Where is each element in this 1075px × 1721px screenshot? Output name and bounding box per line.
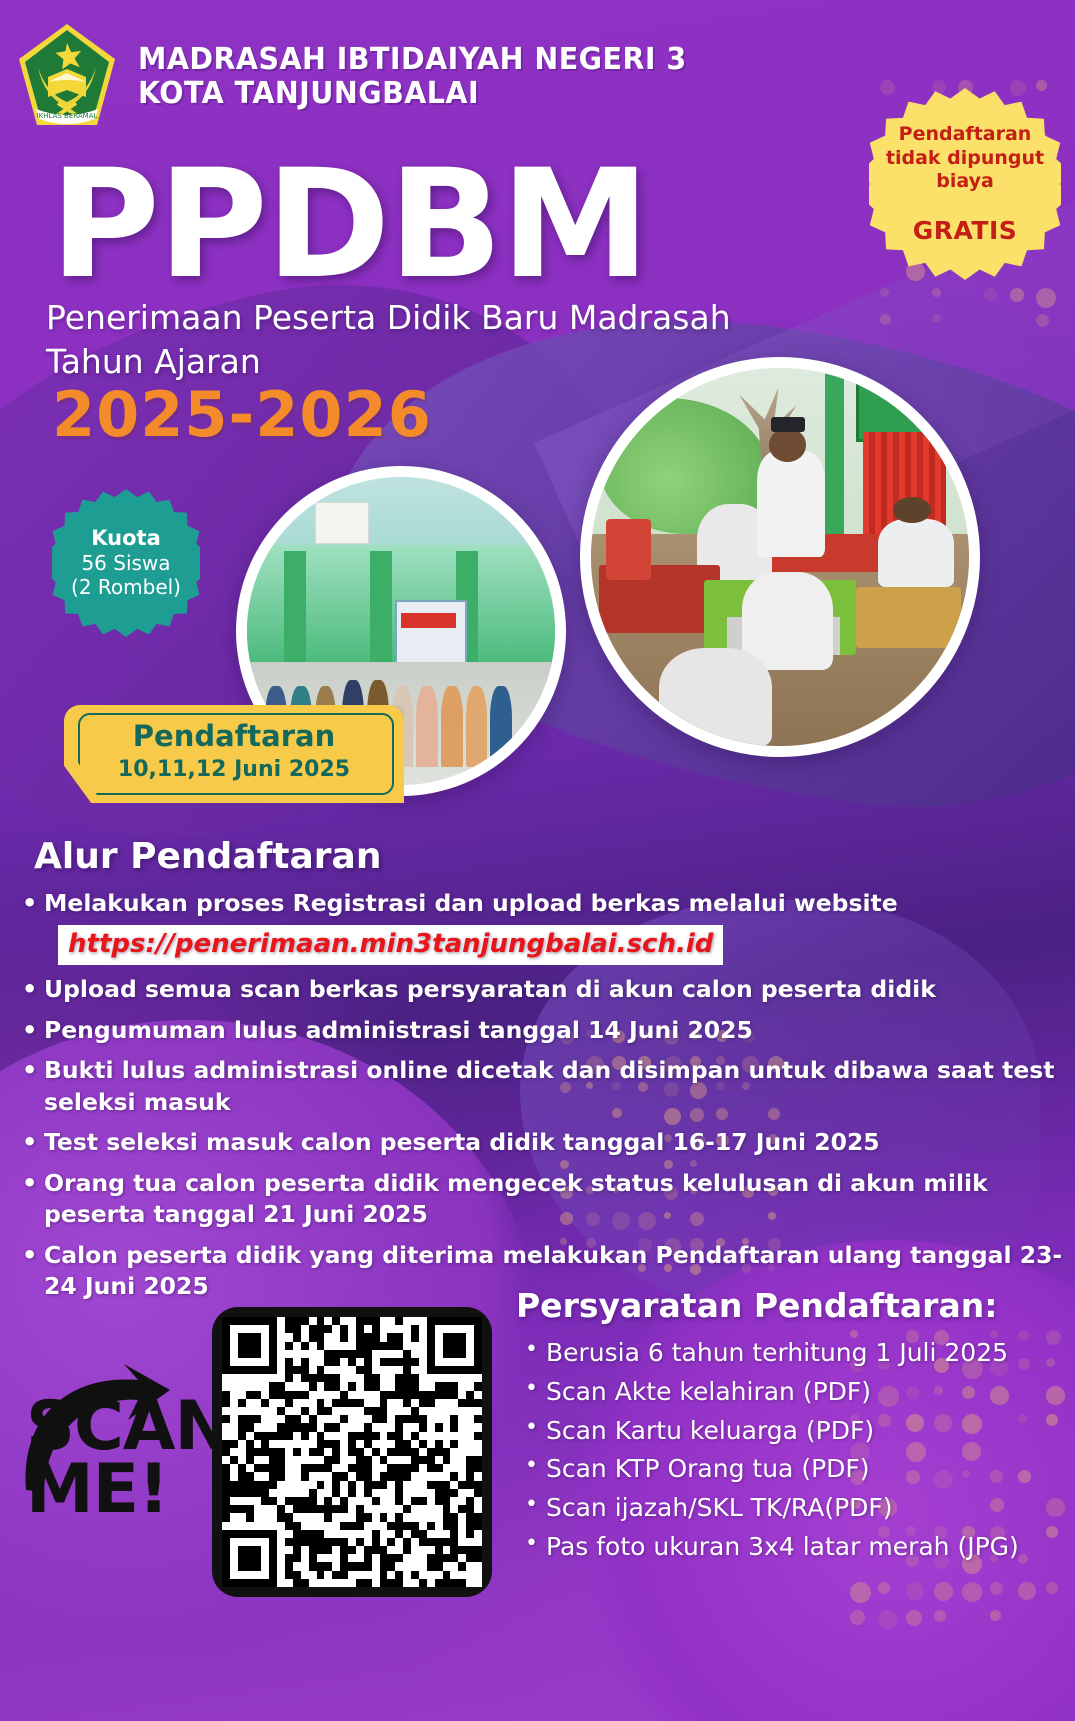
persyaratan-item: Scan Akte kelahiran (PDF) bbox=[542, 1373, 1075, 1412]
page-subtitle-line1: Penerimaan Peserta Didik Baru Madrasah bbox=[46, 296, 731, 340]
alur-item-text: Test seleksi masuk calon peserta didik t… bbox=[44, 1128, 880, 1156]
kuota-badge: Kuota 56 Siswa (2 Rombel) bbox=[52, 489, 200, 637]
persyaratan-item: Scan KTP Orang tua (PDF) bbox=[542, 1450, 1075, 1489]
gratis-badge-line3: biaya bbox=[886, 170, 1044, 194]
alur-item: Bukti lulus administrasi online dicetak … bbox=[40, 1055, 1075, 1118]
registration-ribbon-title: Pendaftaran bbox=[64, 705, 404, 753]
kuota-line2: (2 Rombel) bbox=[71, 576, 181, 600]
alur-item: Orang tua calon peserta didik mengecek s… bbox=[40, 1168, 1075, 1231]
alur-list: Melakukan proses Registrasi dan upload b… bbox=[14, 888, 1075, 1312]
alur-item: Pengumuman lulus administrasi tanggal 14… bbox=[40, 1015, 1075, 1046]
gratis-badge-word: GRATIS bbox=[913, 216, 1018, 245]
school-name-line2: KOTA TANJUNGBALAI bbox=[138, 77, 687, 111]
registration-ribbon-date: 10,11,12 Juni 2025 bbox=[64, 753, 404, 782]
school-name: MADRASAH IBTIDAIYAH NEGERI 3 KOTA TANJUN… bbox=[138, 43, 687, 110]
gratis-badge-line2: tidak dipungut bbox=[886, 147, 1044, 171]
scan-me-label: SCAN ME! bbox=[26, 1396, 236, 1521]
registration-url[interactable]: https://penerimaan.min3tanjungbalai.sch.… bbox=[58, 925, 723, 965]
persyaratan-item: Berusia 6 tahun terhitung 1 Juli 2025 bbox=[542, 1334, 1075, 1373]
qr-code-icon[interactable] bbox=[212, 1307, 492, 1597]
gratis-badge-line1: Pendaftaran bbox=[886, 123, 1044, 147]
alur-item: Upload semua scan berkas persyaratan di … bbox=[40, 974, 1075, 1005]
persyaratan-item: Scan ijazah/SKL TK/RA(PDF) bbox=[542, 1489, 1075, 1528]
kuota-line1: 56 Siswa bbox=[81, 552, 170, 576]
registration-date-ribbon: Pendaftaran 10,11,12 Juni 2025 bbox=[64, 705, 404, 803]
school-name-line1: MADRASAH IBTIDAIYAH NEGERI 3 bbox=[138, 43, 687, 77]
poster-root: IKHLAS BERAMAL MADRASAH IBTIDAIYAH NEGER… bbox=[0, 0, 1075, 1721]
alur-heading: Alur Pendaftaran bbox=[34, 836, 381, 877]
alur-item-text: Bukti lulus administrasi online dicetak … bbox=[44, 1056, 1055, 1115]
persyaratan-list: Berusia 6 tahun terhitung 1 Juli 2025Sca… bbox=[516, 1334, 1075, 1567]
alur-item: Melakukan proses Registrasi dan upload b… bbox=[40, 888, 1075, 965]
alur-item-text: Orang tua calon peserta didik mengecek s… bbox=[44, 1169, 988, 1228]
scan-me-line2: ME! bbox=[26, 1459, 236, 1522]
alur-item-text: Melakukan proses Registrasi dan upload b… bbox=[44, 889, 898, 917]
kemenag-madrasah-logo-icon: IKHLAS BERAMAL bbox=[14, 21, 120, 133]
photo-classroom bbox=[580, 357, 980, 757]
kuota-title: Kuota bbox=[91, 526, 161, 550]
persyaratan-item: Pas foto ukuran 3x4 latar merah (JPG) bbox=[542, 1528, 1075, 1567]
persyaratan-item: Scan Kartu keluarga (PDF) bbox=[542, 1412, 1075, 1451]
svg-text:IKHLAS BERAMAL: IKHLAS BERAMAL bbox=[37, 112, 98, 120]
alur-item: Test seleksi masuk calon peserta didik t… bbox=[40, 1127, 1075, 1158]
qr-code-matrix[interactable] bbox=[222, 1317, 482, 1587]
alur-item-text: Pengumuman lulus administrasi tanggal 14… bbox=[44, 1016, 753, 1044]
academic-year: 2025-2026 bbox=[52, 378, 432, 451]
persyaratan-heading: Persyaratan Pendaftaran: bbox=[516, 1286, 997, 1325]
page-title: PPDBM bbox=[50, 150, 648, 300]
alur-item-text: Upload semua scan berkas persyaratan di … bbox=[44, 975, 936, 1003]
